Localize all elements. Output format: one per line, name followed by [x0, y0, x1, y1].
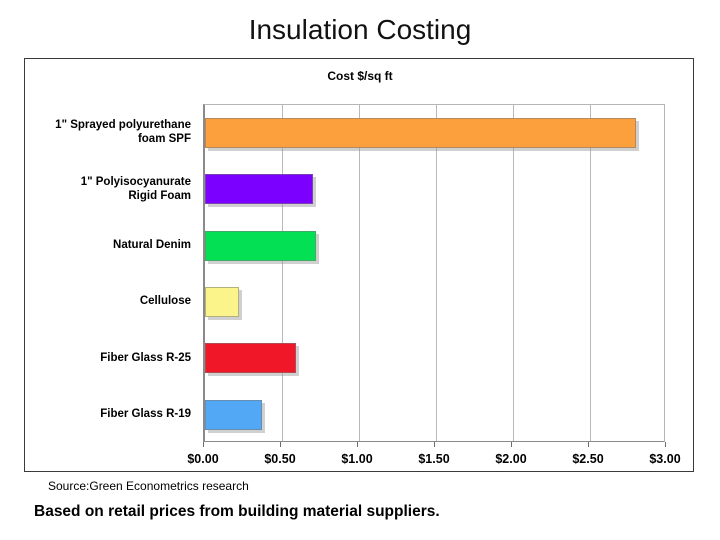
x-axis-tick [434, 442, 435, 447]
x-axis-tick-label: $2.50 [572, 452, 603, 466]
bar-row [205, 105, 664, 161]
x-axis-tick-label: $2.00 [495, 452, 526, 466]
chart-page: Insulation Costing Cost $/sq ft 1" Spray… [0, 0, 720, 540]
bar[interactable] [205, 287, 239, 317]
category-label-line: Fiber Glass R-25 [0, 351, 191, 365]
bar[interactable] [205, 174, 313, 204]
category-label: Cellulose [0, 294, 191, 308]
page-title: Insulation Costing [0, 14, 720, 46]
category-label-line: foam SPF [0, 132, 191, 146]
x-axis-tick-label: $0.00 [187, 452, 218, 466]
chart-frame: Cost $/sq ft 1" Sprayed polyurethanefoam… [24, 58, 694, 472]
x-axis-tick [588, 442, 589, 447]
x-axis-tick [511, 442, 512, 447]
bar-row [205, 218, 664, 274]
category-label-line: Rigid Foam [0, 189, 191, 203]
bar[interactable] [205, 231, 316, 261]
plot-area [203, 104, 665, 442]
category-label: Natural Denim [0, 238, 191, 252]
source-note: Source:Green Econometrics research [48, 479, 249, 493]
x-axis-tick-label: $3.00 [649, 452, 680, 466]
bar-row [205, 387, 664, 443]
bar-row [205, 274, 664, 330]
x-axis-tick [665, 442, 666, 447]
x-axis-tick [357, 442, 358, 447]
category-label-line: 1" Sprayed polyurethane [0, 118, 191, 132]
x-axis-tick [203, 442, 204, 447]
category-label-line: Cellulose [0, 294, 191, 308]
category-label-line: 1" Polyisocyanurate [0, 175, 191, 189]
category-label-line: Fiber Glass R-19 [0, 407, 191, 421]
category-label: Fiber Glass R-25 [0, 351, 191, 365]
bar[interactable] [205, 118, 636, 148]
bar-row [205, 330, 664, 386]
bar-row [205, 161, 664, 217]
bar[interactable] [205, 400, 262, 430]
x-axis-tick-label: $1.50 [418, 452, 449, 466]
category-label-line: Natural Denim [0, 238, 191, 252]
x-axis-tick-label: $0.50 [264, 452, 295, 466]
category-label: Fiber Glass R-19 [0, 407, 191, 421]
chart-subtitle: Cost $/sq ft [25, 69, 695, 83]
bar[interactable] [205, 343, 296, 373]
category-label: 1" Sprayed polyurethanefoam SPF [0, 118, 191, 146]
x-axis-tick-label: $1.00 [341, 452, 372, 466]
tagline-note: Based on retail prices from building mat… [34, 503, 440, 521]
x-axis-tick [280, 442, 281, 447]
category-label: 1" PolyisocyanurateRigid Foam [0, 175, 191, 203]
